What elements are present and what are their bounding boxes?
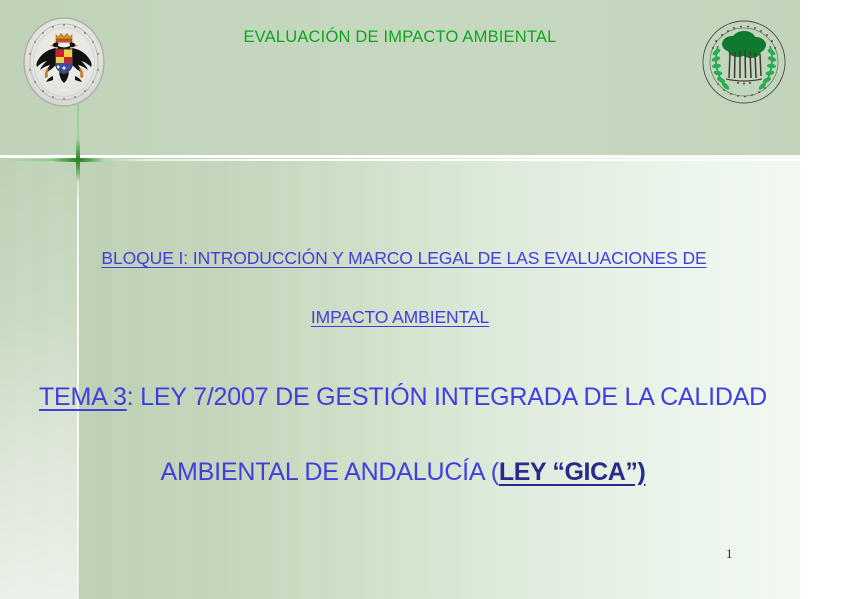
decorative-cross-icon-arm [52, 158, 104, 162]
decorative-horizontal-line [0, 159, 800, 161]
header-course-title: EVALUACIÓN DE IMPACTO AMBIENTAL [150, 28, 650, 47]
presentation-slide: EVALUACIÓN DE IMPACTO AMBIENTAL BLOQUE I… [0, 0, 800, 599]
ambiental-prefix: AMBIENTAL DE ANDALUCÍA ( [161, 458, 499, 486]
page-number: 1 [726, 546, 733, 562]
title-tema-line: TEMA 3: LEY 7/2007 DE GESTIÓN INTEGRADA … [0, 383, 800, 412]
tema-label: TEMA 3 [39, 383, 127, 411]
title-ambiental-line: AMBIENTAL DE ANDALUCÍA (LEY “GICA”) [0, 458, 800, 487]
tema-rest: : LEY 7/2007 DE GESTIÓN INTEGRADA DE LA … [127, 383, 767, 411]
universidad-granada-logo-icon [22, 16, 106, 108]
title-bloque-line-1: BLOQUE I: INTRODUCCIÓN Y MARCO LEGAL DE … [0, 248, 800, 269]
gica-emphasis: LEY “GICA”) [499, 458, 646, 486]
header-divider [0, 155, 800, 158]
title-bloque-line-2: IMPACTO AMBIENTAL [0, 307, 800, 328]
slide-title-block: BLOQUE I: INTRODUCCIÓN Y MARCO LEGAL DE … [0, 248, 800, 487]
ciencias-ambientales-logo-icon [698, 18, 790, 106]
header-band [0, 0, 800, 157]
